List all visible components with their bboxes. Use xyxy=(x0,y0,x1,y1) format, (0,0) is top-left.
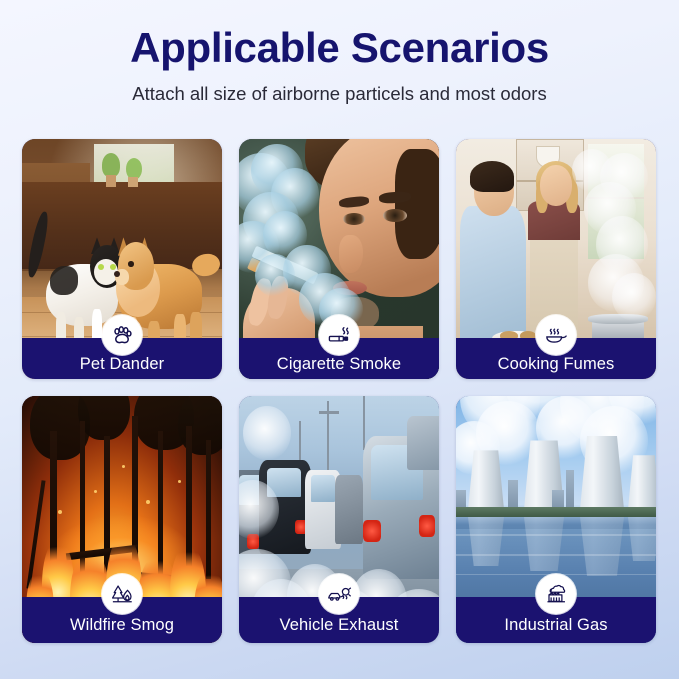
poster-root: Applicable Scenarios Attach all size of … xyxy=(0,0,679,679)
scenario-card-cooking-fumes[interactable]: Cooking Fumes xyxy=(456,139,656,379)
page-subtitle: Attach all size of airborne particels an… xyxy=(0,83,679,105)
cigarette-icon xyxy=(319,315,359,355)
scenario-card-cigarette-smoke[interactable]: Cigarette Smoke xyxy=(239,139,439,379)
page-title: Applicable Scenarios xyxy=(0,26,679,71)
frying-pan-icon xyxy=(536,315,576,355)
scenario-card-industrial-gas[interactable]: Industrial Gas xyxy=(456,396,656,643)
factory-smoke-icon xyxy=(536,574,576,614)
paw-print-icon xyxy=(102,315,142,355)
car-exhaust-icon xyxy=(319,574,359,614)
scenario-card-pet-dander[interactable]: Pet Dander xyxy=(22,139,222,379)
scenario-card-wildfire-smog[interactable]: Wildfire Smog xyxy=(22,396,222,643)
burning-forest-icon xyxy=(102,574,142,614)
scenario-card-vehicle-exhaust[interactable]: Vehicle Exhaust xyxy=(239,396,439,643)
scenario-grid: Pet Dander xyxy=(22,139,657,643)
header: Applicable Scenarios Attach all size of … xyxy=(0,0,679,105)
